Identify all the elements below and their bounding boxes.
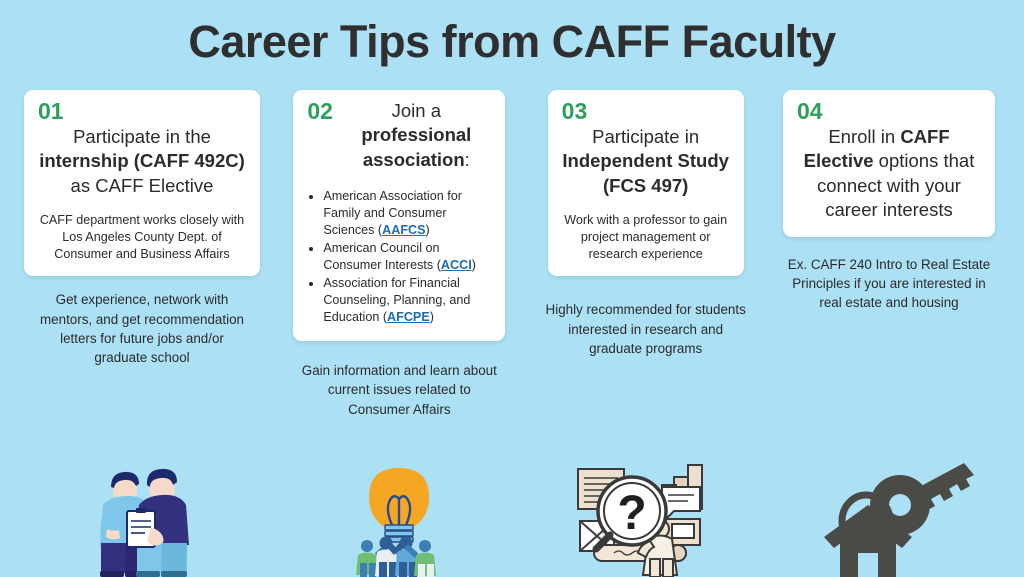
list-item: American Association for Family and Cons… — [323, 188, 491, 239]
page-title: Career Tips from CAFF Faculty — [0, 16, 1024, 68]
tip-column-4: 04 Enroll in CAFF Elective options that … — [778, 90, 1000, 577]
tip-heading-4-part-1: Enroll in — [828, 126, 900, 147]
association-list: American Association for Family and Cons… — [307, 188, 491, 326]
tip-caption-2: Gain information and learn about current… — [296, 361, 502, 418]
association-name-2: American Council on Consumer Interests ( — [323, 241, 441, 272]
link-acci[interactable]: ACCI — [441, 258, 472, 272]
tip-number-4: 04 — [797, 100, 981, 123]
tip-caption-3: Highly recommended for students interest… — [543, 300, 749, 357]
tip-heading-2-part-2: professional association — [361, 124, 471, 169]
svg-text:?: ? — [617, 487, 646, 540]
tip-heading-2-part-1: Join a — [392, 100, 441, 121]
tip-number-1: 01 — [38, 100, 246, 123]
tip-column-2: 02 Join a professional association: Amer… — [285, 90, 513, 577]
magnifying-glass-question-illustration: ? — [566, 459, 726, 577]
house-key-illustration — [796, 459, 982, 577]
tip-heading-1: Participate in the internship (CAFF 492C… — [38, 125, 246, 198]
tip-heading-2: Join a professional association: — [307, 99, 491, 172]
tip-heading-4: Enroll in CAFF Elective options that con… — [797, 125, 981, 223]
tip-heading-3-part-2: Independent Study (FCS 497) — [562, 150, 729, 195]
two-people-with-clipboard-illustration — [67, 465, 217, 577]
tip-heading-2-part-3: : — [465, 149, 470, 170]
tip-heading-3: Participate in Independent Study (FCS 49… — [562, 125, 730, 198]
tip-card-4[interactable]: 04 Enroll in CAFF Elective options that … — [783, 90, 995, 237]
tip-heading-3-part-1: Participate in — [592, 126, 699, 147]
tip-card-1[interactable]: 01 Participate in the internship (CAFF 4… — [24, 90, 260, 276]
link-afcpe[interactable]: AFCPE — [387, 310, 430, 324]
lightbulb-teamwork-illustration — [340, 467, 458, 577]
list-item: Association for Financial Counseling, Pl… — [323, 275, 491, 326]
tip-heading-1-part-1: Participate in the — [73, 126, 211, 147]
paren-close-3: ) — [430, 310, 434, 324]
paren-close-2: ) — [472, 258, 476, 272]
tip-heading-1-part-3: as CAFF Elective — [71, 175, 214, 196]
tip-caption-1: Get experience, network with mentors, an… — [39, 290, 245, 367]
tip-column-3: 03 Participate in Independent Study (FCS… — [539, 90, 753, 577]
tip-column-1: 01 Participate in the internship (CAFF 4… — [24, 90, 260, 577]
tip-caption-4: Ex. CAFF 240 Intro to Real Estate Princi… — [780, 255, 998, 312]
list-item: American Council on Consumer Interests (… — [323, 240, 491, 274]
tip-sub-3: Work with a professor to gain project ma… — [562, 212, 730, 262]
link-aafcs[interactable]: AAFCS — [382, 223, 425, 237]
paren-close-1: ) — [426, 223, 430, 237]
tip-card-2[interactable]: 02 Join a professional association: Amer… — [293, 90, 505, 341]
tips-columns: 01 Participate in the internship (CAFF 4… — [0, 90, 1024, 577]
tip-heading-1-part-2: internship (CAFF 492C) — [39, 150, 245, 171]
tip-sub-1: CAFF department works closely with Los A… — [38, 212, 246, 262]
tip-number-3: 03 — [562, 100, 730, 123]
tip-card-3[interactable]: 03 Participate in Independent Study (FCS… — [548, 90, 744, 276]
infographic-poster: Career Tips from CAFF Faculty 01 Partici… — [0, 0, 1024, 577]
